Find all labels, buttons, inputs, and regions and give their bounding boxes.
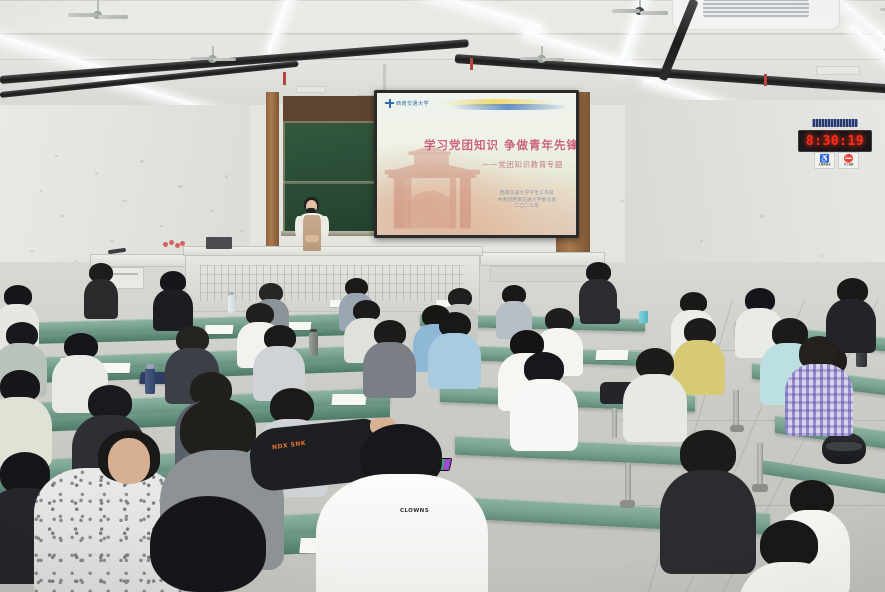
projection-screen-frame: 西南交通大学 学习党团知识 争做青年先锋 xyxy=(374,90,579,238)
clock-indicator-strip xyxy=(812,119,858,127)
water-cup xyxy=(639,311,648,323)
paper-sheet xyxy=(595,350,628,360)
white-tshirt xyxy=(316,474,488,592)
presenter-arm-left xyxy=(295,216,303,238)
paper-sheet xyxy=(331,394,366,405)
ceiling-fan xyxy=(880,0,885,18)
desk-foot xyxy=(752,484,768,492)
campus-gate-illustration xyxy=(381,145,491,233)
shirt-back-text: CLOWNS xyxy=(400,508,429,514)
sign-caption: 禁止吸烟 xyxy=(844,164,854,167)
no-smoking-sign: ⛔ 禁止吸烟 xyxy=(838,152,859,169)
wood-panel-left xyxy=(266,92,279,252)
slide-swoosh-blue xyxy=(449,104,567,110)
presenter-vest xyxy=(303,215,321,251)
no-smoking-icon: ⛔ xyxy=(844,155,854,163)
podium-monitor xyxy=(206,237,232,249)
desk-leg xyxy=(733,390,739,428)
university-logo: 西南交通大学 xyxy=(385,99,429,108)
presenter-arm-right xyxy=(321,216,329,238)
podium-side-shelf-right xyxy=(480,252,605,266)
desk-leg xyxy=(625,463,631,503)
ceiling-fan xyxy=(190,48,236,64)
accessibility-sign: ♿ 无障碍通道 xyxy=(814,152,835,169)
paper-sheet xyxy=(205,325,234,334)
slide-subtitle: ——党团知识教育专题 xyxy=(482,159,563,170)
slide-title: 学习党团知识 争做青年先锋 xyxy=(424,137,576,153)
pipe-marker xyxy=(764,74,767,86)
sign-caption: 无障碍通道 xyxy=(819,164,831,167)
thermos-bottle xyxy=(309,332,318,356)
pipe-marker xyxy=(470,58,473,70)
desk-leg xyxy=(612,408,617,438)
digital-wall-clock: 8:30:19 xyxy=(798,130,872,152)
thermos-bottle xyxy=(145,368,155,394)
pipe-marker xyxy=(283,72,286,85)
water-bottle xyxy=(228,295,235,313)
motorcycle-helmet xyxy=(822,432,866,464)
logo-wordmark: 西南交通大学 xyxy=(396,100,429,107)
desk-leg xyxy=(757,443,763,487)
flower-decoration xyxy=(163,240,185,250)
ceiling-speaker xyxy=(816,66,860,75)
clock-time: 8:30:19 xyxy=(806,134,864,149)
ceiling-speaker xyxy=(296,86,326,93)
slide-credit: 西南交通大学学生工作部 共青团西南交通大学委员会 二〇二三年 xyxy=(485,191,569,211)
desk-foot xyxy=(730,425,744,432)
projection-screen: 西南交通大学 学习党团知识 争做青年先锋 xyxy=(377,93,576,235)
credit-line: 二〇二三年 xyxy=(485,204,569,211)
ceiling-fan xyxy=(520,48,564,64)
presenter xyxy=(292,197,332,255)
helmet-visor xyxy=(826,442,863,452)
logo-mark-icon xyxy=(385,99,394,108)
presenter-hands xyxy=(305,235,319,242)
ceiling-fan xyxy=(68,2,128,22)
ceiling-fan xyxy=(612,0,668,20)
desk-foot xyxy=(620,500,635,508)
credit-line: 西南交通大学学生工作部 xyxy=(485,191,569,198)
lecture-hall-photo: 西南交通大学 学习党团知识 争做青年先锋 xyxy=(0,0,885,592)
accessibility-icon: ♿ xyxy=(820,155,830,163)
